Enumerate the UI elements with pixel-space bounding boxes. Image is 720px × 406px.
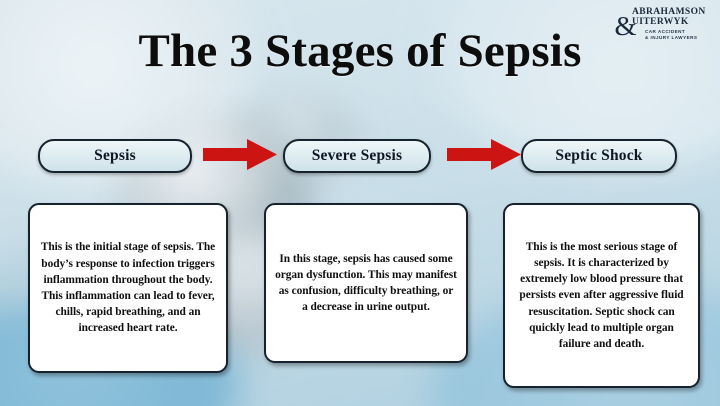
stage-pill-label: Septic Shock: [555, 147, 642, 165]
page-title: The 3 Stages of Sepsis: [0, 24, 720, 78]
arrow-right-icon: [447, 139, 521, 170]
stage-description-text: In this stage, sepsis has caused some or…: [275, 251, 457, 316]
stage-pill-label: Severe Sepsis: [312, 147, 403, 165]
stage-description-card-severe-sepsis: In this stage, sepsis has caused some or…: [264, 203, 468, 363]
stage-description-text: This is the most serious stage of sepsis…: [514, 239, 689, 352]
arrow-right-icon: [203, 139, 277, 170]
stage-pill-sepsis: Sepsis: [38, 139, 192, 173]
stage-pill-septic-shock: Septic Shock: [521, 139, 677, 173]
stage-pill-label: Sepsis: [94, 147, 136, 165]
stage-pill-severe-sepsis: Severe Sepsis: [283, 139, 431, 173]
stage-description-text: This is the initial stage of sepsis. The…: [39, 239, 217, 336]
stage-description-card-septic-shock: This is the most serious stage of sepsis…: [503, 203, 700, 388]
infographic-canvas: & ABRAHAMSON UITERWYK CAR ACCIDENT & INJ…: [0, 0, 720, 406]
stage-description-card-sepsis: This is the initial stage of sepsis. The…: [28, 203, 228, 373]
